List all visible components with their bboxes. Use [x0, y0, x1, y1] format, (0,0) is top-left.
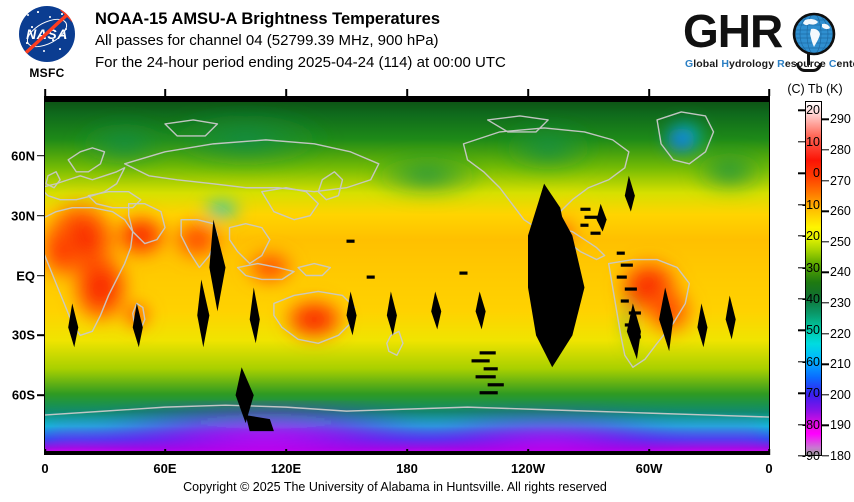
longitude-tick-mark — [44, 449, 46, 455]
colorbar-kelvin-tick-mark — [822, 272, 829, 273]
ghrc-tagline-part: C — [829, 58, 837, 70]
latitude-tick-mark — [37, 335, 44, 337]
longitude-tick-mark — [285, 449, 287, 455]
period-subtitle: For the 24-hour period ending 2025-04-24… — [95, 52, 506, 74]
latitude-tick-label: 30S — [12, 328, 35, 343]
longitude-tick-mark — [527, 449, 529, 455]
ghrc-tagline-part: enter — [837, 58, 854, 70]
colorbar-kelvin-tick-mark — [822, 302, 829, 303]
page-title: NOAA-15 AMSU-A Brightness Temperatures — [95, 9, 506, 30]
colorbar-kelvin-tick-mark — [822, 210, 829, 211]
colorbar-kelvin-tick-label: 180 — [830, 449, 851, 463]
latitude-tick-label: 60N — [11, 148, 35, 163]
longitude-tick-mark — [406, 449, 408, 455]
colorbar-celsius-tick-mark — [798, 110, 805, 111]
map-top-ticks — [44, 86, 770, 96]
colorbar-celsius-tick-label: 10 — [806, 135, 820, 149]
ghrc-tagline-part: lobal — [693, 58, 721, 70]
latitude-tick-mark — [37, 155, 44, 157]
colorbar-kelvin-tick-label: 210 — [830, 357, 851, 371]
colorbar-celsius-tick-label: 0 — [813, 166, 820, 180]
latitude-tick-mark — [37, 394, 44, 396]
latitude-tick-label: 30N — [11, 208, 35, 223]
nasa-swoosh-icon — [19, 6, 75, 62]
longitude-tick-mark — [164, 449, 166, 455]
colorbar-celsius-tick-label: -50 — [802, 323, 820, 337]
nasa-insignia-disc: NASA — [19, 6, 75, 62]
longitude-tick-mark-top — [285, 89, 287, 96]
longitude-tick-mark-top — [164, 89, 166, 96]
colorbar-kelvin-tick-label: 290 — [830, 112, 851, 126]
longitude-tick-label: 180 — [396, 461, 418, 476]
ghrc-tagline: Global Hydrology Resource Center — [685, 58, 847, 70]
colorbar-kelvin-tick-label: 240 — [830, 265, 851, 279]
colorbar-celsius-tick-label: -40 — [802, 292, 820, 306]
colorbar-kelvin-tick-mark — [822, 180, 829, 181]
colorbar-kelvin-tick-label: 260 — [830, 204, 851, 218]
header: NASA MSFC NOAA-15 AMSU-A Brightness Temp… — [0, 0, 854, 92]
colorbar-kelvin-tick-label: 280 — [830, 143, 851, 157]
colorbar-kelvin-tick-mark — [822, 119, 829, 120]
colorbar-celsius-tick-label: -60 — [802, 355, 820, 369]
colorbar-celsius-tick-label: -80 — [802, 418, 820, 432]
channel-subtitle: All passes for channel 04 (52799.39 MHz,… — [95, 30, 506, 52]
latitude-tick-label: EQ — [16, 268, 35, 283]
colorbar-gradient — [805, 101, 822, 456]
map-border — [44, 96, 770, 455]
longitude-tick-label: 120W — [511, 461, 545, 476]
colorbar-kelvin-tick-mark — [822, 333, 829, 334]
longitude-tick-mark-top — [406, 89, 408, 96]
colorbar-title: (C) Tb (K) — [776, 82, 854, 96]
title-block: NOAA-15 AMSU-A Brightness Temperatures A… — [95, 9, 506, 74]
longitude-tick-mark — [648, 449, 650, 455]
longitude-tick-label: 0 — [41, 461, 48, 476]
colorbar-kelvin-tick-label: 200 — [830, 388, 851, 402]
colorbar-kelvin-tick-mark — [822, 425, 829, 426]
colorbar-kelvin-tick-label: 230 — [830, 296, 851, 310]
colorbar-celsius-tick-mark — [798, 173, 805, 174]
colorbar-panel: (C) Tb (K) 20100-10-20-30-40-50-60-70-80… — [776, 82, 854, 472]
colorbar-kelvin-tick-label: 250 — [830, 235, 851, 249]
longitude-tick-label: 60E — [153, 461, 176, 476]
globe-icon — [792, 12, 836, 56]
brightness-temperature-map[interactable] — [44, 96, 770, 455]
copyright-notice: Copyright © 2025 The University of Alaba… — [0, 480, 790, 494]
colorbar-celsius-tick-label: -30 — [802, 261, 820, 275]
ghrc-acronym: GHR — [683, 4, 782, 58]
ghrc-tagline-part: ydrology — [729, 58, 777, 70]
nasa-center-label: MSFC — [8, 66, 86, 80]
longitude-tick-label: 60W — [636, 461, 663, 476]
latitude-tick-mark — [37, 215, 44, 217]
colorbar-kelvin-tick-mark — [822, 149, 829, 150]
colorbar-celsius-tick-label: -20 — [802, 229, 820, 243]
longitude-tick-mark-top — [44, 89, 46, 96]
colorbar-kelvin-tick-mark — [822, 455, 829, 456]
colorbar-kelvin-tick-label: 270 — [830, 174, 851, 188]
longitude-tick-label: 120E — [271, 461, 301, 476]
longitude-tick-label: 0 — [765, 461, 772, 476]
latitude-axis: 60N30NEQ30S60S — [0, 96, 44, 455]
longitude-tick-mark-top — [527, 89, 529, 96]
ghrc-tagline-part: H — [721, 58, 729, 70]
colorbar-kelvin-tick-mark — [822, 241, 829, 242]
colorbar-celsius-tick-label: -90 — [802, 449, 820, 463]
nasa-logo: NASA MSFC — [8, 4, 86, 84]
ghrc-tagline-part: esource — [785, 58, 829, 70]
colorbar-celsius-tick-label: 20 — [806, 103, 820, 117]
longitude-tick-mark — [768, 449, 770, 455]
ghrc-logo: GHR — [683, 6, 847, 78]
colorbar-kelvin-tick-mark — [822, 394, 829, 395]
colorbar-kelvin-tick-label: 220 — [830, 327, 851, 341]
latitude-tick-mark — [37, 275, 44, 277]
longitude-tick-mark-top — [648, 89, 650, 96]
ghrc-tagline-part: R — [777, 58, 785, 70]
colorbar-celsius-tick-label: -10 — [802, 198, 820, 212]
colorbar-kelvin-tick-mark — [822, 363, 829, 364]
colorbar-kelvin-tick-label: 190 — [830, 418, 851, 432]
longitude-tick-mark-top — [768, 89, 770, 96]
colorbar-celsius-tick-mark — [798, 141, 805, 142]
colorbar-celsius-tick-label: -70 — [802, 386, 820, 400]
latitude-tick-label: 60S — [12, 388, 35, 403]
